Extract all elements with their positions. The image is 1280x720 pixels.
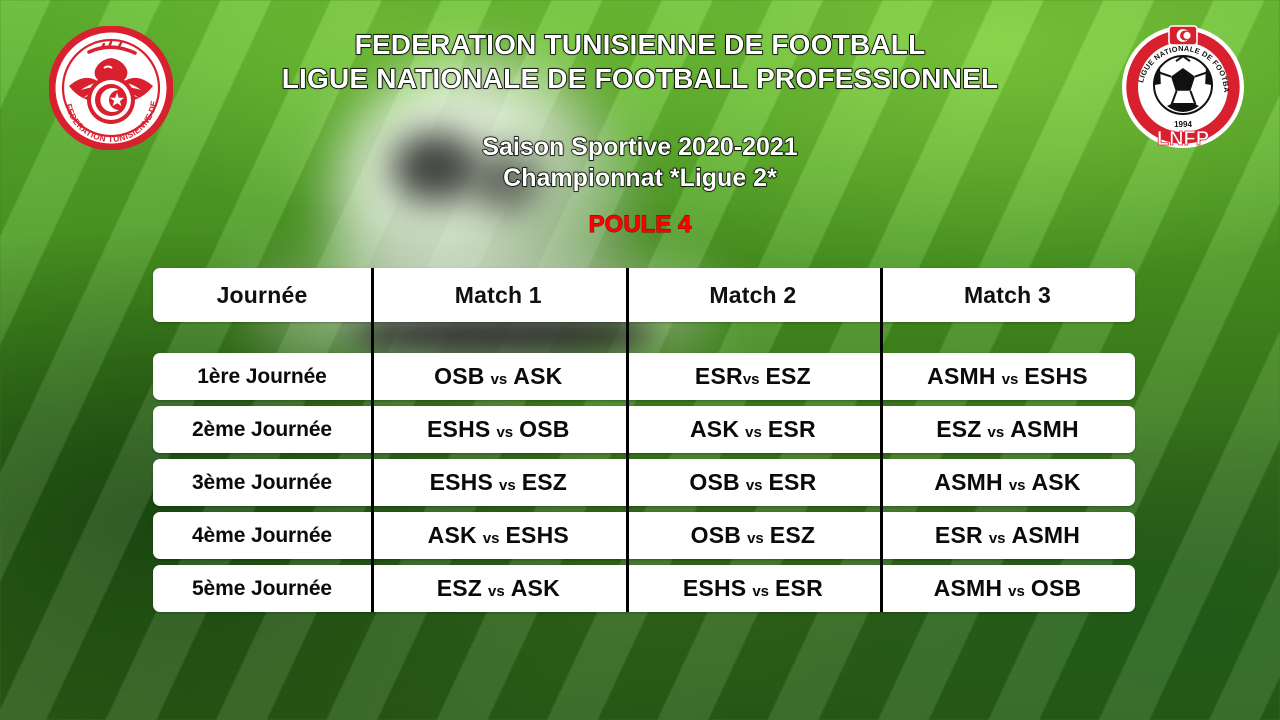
fixture: ESRvsESZ [695, 363, 811, 390]
away-team: ASMH [1012, 522, 1081, 548]
fixture: ESHSvsOSB [427, 416, 570, 443]
away-team: ESZ [522, 469, 567, 495]
versus-label: vs [752, 583, 769, 600]
match-cell: ASMHvsESHS [880, 353, 1135, 400]
poster-title: FEDERATION TUNISIENNE DE FOOTBALL LIGUE … [0, 28, 1280, 96]
journee-cell: 4ème Journée [153, 512, 371, 559]
away-team: ESR [775, 575, 823, 601]
column-header-match-1: Match 1 [371, 268, 626, 322]
fixture: ASKvsESR [690, 416, 816, 443]
season-line: Saison Sportive 2020-2021 [0, 132, 1280, 163]
fixture: ASMHvsOSB [934, 575, 1082, 602]
away-team: ASK [511, 575, 560, 601]
column-header-label: Match 1 [455, 282, 542, 309]
ligue-title-line: LIGUE NATIONALE DE FOOTBALL PROFESSIONNE… [0, 62, 1280, 96]
away-team: ESZ [770, 522, 815, 548]
journee-label: 1ère Journée [197, 365, 327, 389]
fixture: ASKvsESHS [428, 522, 569, 549]
table-row: 4ème JournéeASKvsESHSOSBvsESZESRvsASMH [153, 512, 1135, 559]
journee-label: 2ème Journée [192, 418, 332, 442]
fixture: ESZvsASK [437, 575, 560, 602]
fixture: ASMHvsASK [934, 469, 1080, 496]
home-team: ASK [428, 522, 477, 548]
versus-label: vs [483, 530, 500, 547]
versus-label: vs [1009, 477, 1026, 494]
match-cell: OSBvsESR [626, 459, 881, 506]
fixture: ESHSvsESZ [430, 469, 567, 496]
home-team: ASMH [934, 469, 1003, 495]
championship-line: Championnat *Ligue 2* [0, 163, 1280, 194]
versus-label: vs [988, 424, 1005, 441]
journee-label: 4ème Journée [192, 524, 332, 548]
match-cell: ASMHvsOSB [880, 565, 1135, 612]
match-cell: ESRvsASMH [880, 512, 1135, 559]
poule-label: POULE 4 [0, 211, 1280, 239]
versus-label: vs [1002, 371, 1019, 388]
fixture: OSBvsASK [434, 363, 562, 390]
table-body: 1ère JournéeOSBvsASKESRvsESZASMHvsESHS2è… [153, 353, 1135, 612]
match-cell: ESHSvsESR [626, 565, 881, 612]
home-team: ESHS [430, 469, 493, 495]
match-cell: ASKvsESHS [371, 512, 626, 559]
versus-label: vs [989, 530, 1006, 547]
fixture: ESZvsASMH [936, 416, 1079, 443]
fixture: OSBvsESZ [691, 522, 815, 549]
fixtures-table: Journée Match 1 Match 2 Match 3 1ère Jou… [153, 268, 1135, 612]
table-header-row: Journée Match 1 Match 2 Match 3 [153, 268, 1135, 322]
match-cell: ESHSvsESZ [371, 459, 626, 506]
match-cell: OSBvsESZ [626, 512, 881, 559]
away-team: ASMH [1010, 416, 1079, 442]
table-row: 2ème JournéeESHSvsOSBASKvsESRESZvsASMH [153, 406, 1135, 453]
away-team: ESZ [766, 363, 811, 389]
fixture: OSBvsESR [689, 469, 816, 496]
home-team: OSB [689, 469, 739, 495]
journee-label: 3ème Journée [192, 471, 332, 495]
away-team: ASK [1032, 469, 1081, 495]
match-cell: ASMHvsASK [880, 459, 1135, 506]
away-team: ESR [768, 416, 816, 442]
versus-label: vs [496, 424, 513, 441]
away-team: ASK [513, 363, 562, 389]
poster-stage: FEDERATION TUNISIENNE DE FOOTBALL [0, 0, 1280, 720]
versus-label: vs [743, 371, 760, 388]
journee-label: 5ème Journée [192, 577, 332, 601]
fixture: ASMHvsESHS [927, 363, 1088, 390]
column-header-match-3: Match 3 [880, 268, 1135, 322]
match-cell: ESHSvsOSB [371, 406, 626, 453]
home-team: ASK [690, 416, 739, 442]
journee-cell: 3ème Journée [153, 459, 371, 506]
table-row: 1ère JournéeOSBvsASKESRvsESZASMHvsESHS [153, 353, 1135, 400]
journee-cell: 2ème Journée [153, 406, 371, 453]
table-row: 3ème JournéeESHSvsESZOSBvsESRASMHvsASK [153, 459, 1135, 506]
table-row: 5ème JournéeESZvsASKESHSvsESRASMHvsOSB [153, 565, 1135, 612]
versus-label: vs [747, 530, 764, 547]
home-team: ASMH [927, 363, 996, 389]
column-header-journee: Journée [153, 268, 371, 322]
column-header-label: Match 2 [709, 282, 796, 309]
poster-subtitle: Saison Sportive 2020-2021 Championnat *L… [0, 132, 1280, 194]
away-team: ESHS [1024, 363, 1087, 389]
versus-label: vs [488, 583, 505, 600]
home-team: ESHS [427, 416, 490, 442]
match-cell: OSBvsASK [371, 353, 626, 400]
column-header-label: Match 3 [964, 282, 1051, 309]
home-team: ESR [935, 522, 983, 548]
away-team: ESHS [506, 522, 569, 548]
home-team: ESHS [683, 575, 746, 601]
match-cell: ESRvsESZ [626, 353, 881, 400]
fixture: ESRvsASMH [935, 522, 1080, 549]
home-team: ESZ [437, 575, 482, 601]
journee-cell: 5ème Journée [153, 565, 371, 612]
versus-label: vs [746, 477, 763, 494]
home-team: ESR [695, 363, 743, 389]
home-team: OSB [434, 363, 484, 389]
home-team: ESZ [936, 416, 981, 442]
versus-label: vs [491, 371, 508, 388]
away-team: ESR [769, 469, 817, 495]
home-team: OSB [691, 522, 741, 548]
federation-title-line: FEDERATION TUNISIENNE DE FOOTBALL [0, 28, 1280, 62]
journee-cell: 1ère Journée [153, 353, 371, 400]
versus-label: vs [1008, 583, 1025, 600]
fixture: ESHSvsESR [683, 575, 823, 602]
match-cell: ESZvsASMH [880, 406, 1135, 453]
home-team: ASMH [934, 575, 1003, 601]
column-header-label: Journée [217, 282, 308, 309]
column-header-match-2: Match 2 [626, 268, 881, 322]
away-team: OSB [1031, 575, 1081, 601]
versus-label: vs [499, 477, 516, 494]
match-cell: ESZvsASK [371, 565, 626, 612]
versus-label: vs [745, 424, 762, 441]
away-team: OSB [519, 416, 569, 442]
match-cell: ASKvsESR [626, 406, 881, 453]
